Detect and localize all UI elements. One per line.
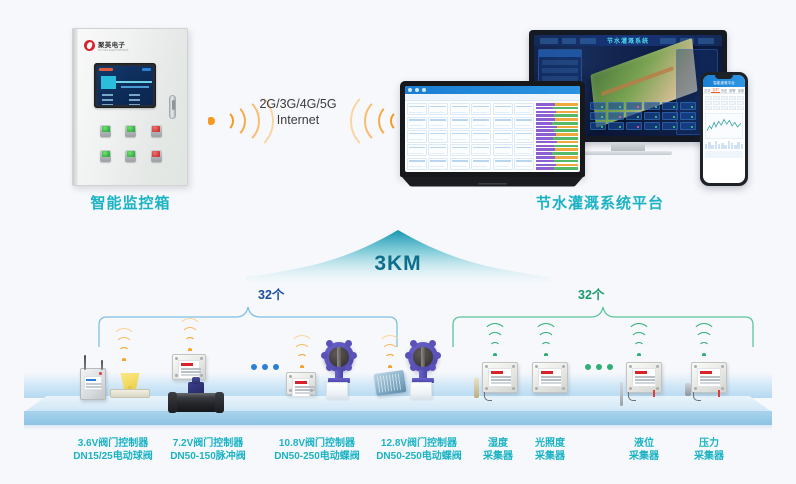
table-cell <box>729 96 736 100</box>
laptop-card-grid <box>405 101 536 172</box>
station-card[interactable] <box>493 144 513 156</box>
sensor-faceplate <box>632 368 656 387</box>
laptop-app-header <box>405 86 580 94</box>
pulse-valve-controller-box <box>172 354 206 380</box>
slab-front-face <box>24 411 772 425</box>
station-card[interactable] <box>428 130 448 142</box>
controller-faceplate <box>84 376 102 390</box>
device-status-cell[interactable] <box>680 122 696 130</box>
phone-tab[interactable]: 总览 <box>703 87 711 93</box>
butterfly-valve-controller-box-2 <box>375 372 405 394</box>
ball-valve-dn15-25 <box>110 374 150 398</box>
table-cell <box>705 106 712 110</box>
hmi-data-row <box>129 99 140 101</box>
hmi-alarm-banner <box>99 68 113 71</box>
valve-controller-unit <box>172 354 206 380</box>
alarm-row[interactable] <box>536 152 578 155</box>
status-led <box>99 372 102 375</box>
humidity-probe <box>474 378 479 398</box>
phone-data-table <box>703 94 745 111</box>
butterfly-valve-controller-box-1 <box>286 372 316 395</box>
transmission-range-label: 3KM <box>246 252 550 276</box>
indicator-button-green[interactable] <box>100 150 111 162</box>
slab-shadow <box>24 424 772 430</box>
device-status-cell[interactable] <box>662 122 678 130</box>
valve-controller-unit <box>286 372 316 395</box>
left-group-bracket <box>98 303 398 347</box>
alarm-row[interactable] <box>536 145 578 148</box>
level-probe-rod <box>620 382 623 406</box>
antenna-short-icon <box>101 360 103 370</box>
laptop-base <box>400 177 585 187</box>
table-cell <box>737 101 744 105</box>
alarm-row[interactable] <box>536 148 578 151</box>
sensor-enclosure <box>532 362 568 393</box>
hmi-pipe-graphic-2 <box>121 86 149 88</box>
device-status-cell[interactable] <box>590 102 606 110</box>
phone-app-title: 智能灌溉平台 <box>713 81 735 86</box>
hmi-screen <box>97 66 153 105</box>
alarm-row[interactable] <box>536 133 578 136</box>
antenna-icon <box>84 355 86 370</box>
wireless-signal-icon <box>692 340 716 356</box>
label-line-1: 压力 <box>677 437 741 450</box>
table-cell <box>737 106 744 110</box>
monitor-nav-tab[interactable] <box>660 38 676 44</box>
alarm-row[interactable] <box>536 141 578 144</box>
device-status-cell[interactable] <box>662 112 678 120</box>
wireless-signal-icon <box>483 340 507 356</box>
monitor-nav-tab[interactable] <box>540 38 558 44</box>
table-cell <box>705 96 712 100</box>
station-card[interactable] <box>407 130 427 142</box>
sensor-enclosure <box>482 362 518 393</box>
level-collector-device <box>626 362 662 393</box>
sensor-faceplate <box>697 368 721 387</box>
station-card[interactable] <box>514 103 534 115</box>
table-cell <box>705 101 712 105</box>
device-status-cell[interactable] <box>644 112 660 120</box>
ellipsis-dots-left <box>251 364 279 370</box>
laptop <box>400 81 585 187</box>
brand-subtitle: JUYING ELECTRONICS <box>98 49 128 52</box>
monitor-nav-tab[interactable] <box>698 38 714 44</box>
smartphone: 智能灌溉平台 总览 实时 历史 报警 设置 <box>700 72 748 186</box>
cabinet-door-edge <box>73 29 78 185</box>
right-group-quantity: 32个 <box>578 284 604 303</box>
wireless-signal-icon <box>290 352 314 368</box>
alarm-row[interactable] <box>536 137 578 140</box>
app-user-icon <box>422 88 426 92</box>
label-line-2: 采集器 <box>518 450 582 463</box>
station-card[interactable] <box>493 158 513 170</box>
phone-trend-chart <box>705 113 743 139</box>
station-card[interactable] <box>407 158 427 170</box>
cabinet-caption: 智能监控箱 <box>58 192 203 213</box>
station-card[interactable] <box>471 117 491 129</box>
indicator-button-grid <box>93 125 169 162</box>
device-status-cell[interactable] <box>608 122 624 130</box>
station-card[interactable] <box>407 144 427 156</box>
label-line-2: 采集器 <box>612 450 676 463</box>
wireless-signal-icon <box>627 340 651 356</box>
phone-tab[interactable]: 设置 <box>737 87 745 93</box>
device-status-cell[interactable] <box>608 102 624 110</box>
brand-name: 聚英电子 <box>98 39 128 49</box>
wireless-signal-icon <box>534 340 558 356</box>
laptop-toolbar[interactable] <box>405 94 580 101</box>
device-status-cell[interactable] <box>626 102 642 110</box>
label-pressure-collector: 压力 采集器 <box>677 437 741 463</box>
station-card[interactable] <box>450 117 470 129</box>
terminal-marker <box>718 390 721 397</box>
sensor-cable <box>484 392 492 401</box>
station-card[interactable] <box>493 103 513 115</box>
sensor-faceplate <box>538 368 562 387</box>
indicator-button-red[interactable] <box>151 150 162 162</box>
terminal-marker <box>653 390 656 397</box>
alarm-row[interactable] <box>536 129 578 132</box>
tree-item[interactable] <box>542 68 578 73</box>
station-card[interactable] <box>514 158 534 170</box>
electric-ball-valve <box>110 374 150 398</box>
sensor-cable <box>628 392 636 401</box>
station-card[interactable] <box>493 117 513 129</box>
monitor-stand <box>611 142 645 151</box>
label-line-1: 液位 <box>612 437 676 450</box>
laptop-content <box>405 101 580 172</box>
alarm-row[interactable] <box>536 114 578 117</box>
infographic-canvas: 聚英电子 JUYING ELECTRONICS <box>0 0 796 484</box>
network-internet: Internet <box>256 112 340 128</box>
monitor-nav-tab[interactable] <box>562 38 576 44</box>
hmi-data-row <box>102 99 113 101</box>
tree-panel-header <box>539 50 581 57</box>
device-status-cell[interactable] <box>608 112 624 120</box>
table-cell <box>721 101 728 105</box>
sensor-enclosure <box>691 362 727 393</box>
indicator-button-green[interactable] <box>125 125 136 137</box>
phone-tab-bar: 总览 实时 历史 报警 设置 <box>703 87 745 94</box>
alarm-row[interactable] <box>536 160 578 163</box>
device-status-cell[interactable] <box>662 102 678 110</box>
indicator-button-green[interactable] <box>100 125 111 137</box>
laptop-screen <box>405 86 580 172</box>
ground-platform-slab <box>24 396 772 430</box>
mounting-pedestal <box>410 382 432 399</box>
device-status-cell[interactable] <box>644 122 660 130</box>
brand-mark-icon <box>84 40 95 51</box>
app-logo-icon <box>408 88 412 92</box>
controller-faceplate <box>292 378 310 397</box>
rtu-controller <box>80 368 106 400</box>
table-cell <box>713 96 720 100</box>
station-card[interactable] <box>450 103 470 115</box>
cabinet-door-handle[interactable] <box>169 95 176 119</box>
device-status-cell[interactable] <box>590 112 606 120</box>
station-card[interactable] <box>514 117 534 129</box>
station-card[interactable] <box>493 130 513 142</box>
station-card[interactable] <box>471 158 491 170</box>
sensor-cable <box>693 392 701 401</box>
hmi-data-row <box>129 104 140 105</box>
station-card[interactable] <box>450 130 470 142</box>
phone-footer-panel <box>705 151 743 158</box>
app-menu-icon <box>415 88 419 92</box>
station-card[interactable] <box>428 158 448 170</box>
label-illuminance-collector: 光照度 采集器 <box>518 437 582 463</box>
phone-tab[interactable]: 报警 <box>728 87 736 93</box>
ruggedized-controller-unit <box>374 370 407 396</box>
pipe-pulse-valve <box>170 378 222 412</box>
mounting-pedestal <box>326 382 348 399</box>
hmi-data-row <box>102 104 113 105</box>
station-card[interactable] <box>407 117 427 129</box>
hmi-data-row <box>129 94 140 96</box>
monitor-dashboard-title: 节水灌溉系统 <box>607 36 649 45</box>
ellipsis-dots-right <box>585 364 613 370</box>
station-card[interactable] <box>428 103 448 115</box>
monitor-base <box>584 151 672 155</box>
label-valve-controller-12v8: 12.8V阀门控制器 DN50-250电动蝶阀 <box>355 437 483 463</box>
valve-body <box>110 389 150 398</box>
station-card[interactable] <box>471 130 491 142</box>
device-controller-box-1 <box>80 368 106 400</box>
station-card[interactable] <box>514 144 534 156</box>
label-level-collector: 液位 采集器 <box>612 437 676 463</box>
wireless-signal-icon <box>378 352 402 368</box>
alarm-row[interactable] <box>536 107 578 110</box>
label-line-1: 12.8V阀门控制器 <box>355 437 483 450</box>
station-card[interactable] <box>471 103 491 115</box>
sensor-enclosure <box>626 362 662 393</box>
device-status-cell[interactable] <box>626 112 642 120</box>
network-standards: 2G/3G/4G/5G <box>256 96 340 112</box>
hmi-pipe-graphic <box>116 81 152 83</box>
table-cell <box>721 96 728 100</box>
phone-tab[interactable]: 历史 <box>720 87 728 93</box>
device-status-cell[interactable] <box>644 102 660 110</box>
device-status-cell[interactable] <box>680 102 696 110</box>
device-status-cell[interactable] <box>680 112 696 120</box>
platform-caption: 节水灌溉系统平台 <box>480 192 720 213</box>
monitor-device-status-grid <box>590 102 696 130</box>
monitor-nav-tab[interactable] <box>580 38 596 44</box>
tree-item[interactable] <box>542 60 578 65</box>
pressure-transducer <box>685 383 691 396</box>
table-cell <box>713 101 720 105</box>
humidity-collector-device <box>482 362 518 393</box>
pulse-valve-dn50-150 <box>170 378 222 412</box>
alarm-row[interactable] <box>536 164 578 167</box>
hmi-tank-graphic <box>101 76 116 89</box>
pipe-flange <box>215 392 224 413</box>
alarm-row[interactable] <box>536 118 578 121</box>
indicator-button-green[interactable] <box>125 150 136 162</box>
phone-tab-active[interactable]: 实时 <box>711 87 719 93</box>
hmi-touch-panel[interactable] <box>94 63 156 108</box>
station-card[interactable] <box>471 144 491 156</box>
table-cell <box>737 96 744 100</box>
illuminance-collector-device <box>532 362 568 393</box>
left-group-quantity: 32个 <box>258 284 284 303</box>
label-line-1: 光照度 <box>518 437 582 450</box>
slab-top-face <box>24 396 772 412</box>
range-mountain-graphic: 3KM <box>246 228 550 288</box>
label-line-2: 采集器 <box>677 450 741 463</box>
table-cell <box>729 101 736 105</box>
alarm-row[interactable] <box>536 156 578 159</box>
hmi-data-row <box>102 94 113 96</box>
alarm-row[interactable] <box>536 103 578 106</box>
station-card[interactable] <box>407 103 427 115</box>
pressure-collector-device <box>691 362 727 393</box>
alarm-row[interactable] <box>536 126 578 129</box>
label-line-1: 7.2V阀门控制器 <box>148 437 268 450</box>
table-cell <box>729 106 736 110</box>
phone-screen: 智能灌溉平台 总览 实时 历史 报警 设置 <box>703 75 745 183</box>
network-label: 2G/3G/4G/5G Internet <box>256 96 340 128</box>
pipe-flange <box>168 392 177 413</box>
label-valve-controller-7v2: 7.2V阀门控制器 DN50-150脉冲阀 <box>148 437 268 463</box>
phone-notch <box>715 75 733 79</box>
station-card[interactable] <box>450 158 470 170</box>
station-card[interactable] <box>450 144 470 156</box>
laptop-alarm-list[interactable] <box>536 101 580 172</box>
hmi-status-chip <box>142 68 151 71</box>
wireless-signal-icon <box>112 345 136 361</box>
label-line-2: DN50-250电动蝶阀 <box>355 450 483 463</box>
cabinet-brand-logo: 聚英电子 JUYING ELECTRONICS <box>84 39 128 52</box>
indicator-button-red[interactable] <box>151 125 162 137</box>
sensor-faceplate <box>488 368 512 387</box>
station-card[interactable] <box>428 144 448 156</box>
alarm-row[interactable] <box>536 111 578 114</box>
smart-control-cabinet: 聚英电子 JUYING ELECTRONICS <box>72 28 188 186</box>
table-cell <box>713 106 720 110</box>
alarm-row[interactable] <box>536 122 578 125</box>
wireless-signal-icon <box>178 335 202 351</box>
station-card[interactable] <box>514 130 534 142</box>
laptop-lid <box>400 81 585 177</box>
device-status-cell[interactable] <box>626 122 642 130</box>
table-cell <box>721 106 728 110</box>
device-status-cell[interactable] <box>590 122 606 130</box>
alarm-row[interactable] <box>536 167 578 170</box>
station-card[interactable] <box>428 117 448 129</box>
label-line-2: DN50-150脉冲阀 <box>148 450 268 463</box>
phone-bar-chart <box>705 140 743 149</box>
